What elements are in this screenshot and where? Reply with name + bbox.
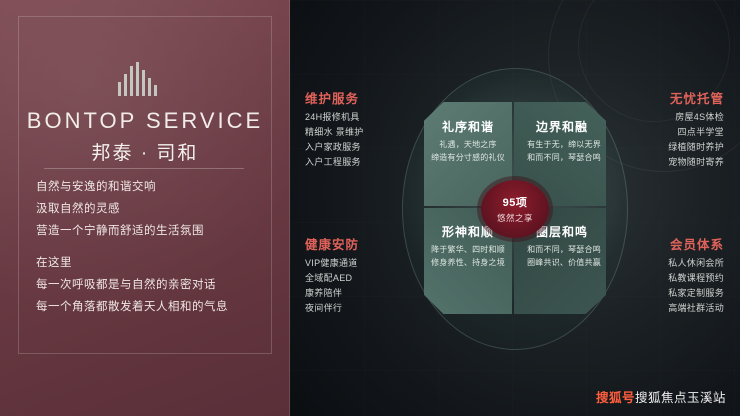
slide-canvas: BONTOP SERVICE 邦泰 · 司和 自然与安逸的和谐交响 汲取自然的灵… [0,0,740,416]
brand-copy-line: 在这里 [36,252,266,274]
list-item: 康养陪伴 [305,286,358,301]
service-wheel-diagram: 礼序和谐 礼遇，天地之序 缔造有分寸感的礼仪 边界和融 有生于无，缔以无界 和而… [402,68,628,350]
list-item: 入户家政服务 [305,140,364,155]
wheel-sub-line: 礼遇，天地之序 [416,138,520,151]
column-list-maintenance: 24H报修机具 精细水 景维护 入户家政服务 入户工程服务 [305,110,364,170]
wheel-sub-line: 圈峰共识、价值共赢 [512,256,616,269]
wheel-sub-line: 缔造有分寸感的礼仪 [416,151,520,164]
wheel-sub-line: 和而不同，琴瑟合鸣 [512,151,616,164]
watermark: 搜狐号搜狐焦点玉溪站 [596,387,726,406]
list-item: 夜间伴行 [305,301,358,316]
list-item: 24H报修机具 [305,110,364,125]
list-item: 私人休闲会所 [668,256,724,271]
brand-name-en: BONTOP SERVICE [0,108,290,134]
wheel-sub-line: 有生于无，缔以无界 [512,138,616,151]
left-panel-frame [18,16,272,354]
wheel-sub-boundary-harmony: 有生于无，缔以无界 和而不同，琴瑟合鸣 [512,138,616,164]
wheel-sub-line: 降于繁华、四时和顺 [416,243,520,256]
list-item: 绿植随时养护 [668,140,724,155]
brand-divider [44,168,244,169]
brand-copy-line: 每一个角落都散发着天人相和的气息 [36,296,266,318]
hub-count: 95项 [503,194,528,210]
column-title-maintenance: 维护服务 [305,88,359,107]
brand-copy-block: 自然与安逸的和谐交响 汲取自然的灵感 营造一个宁静而舒适的生活氛围 在这里 每一… [36,176,266,318]
list-item: 全域配AED [305,271,358,286]
panel-divider [289,0,290,416]
column-title-membership: 会员体系 [670,234,724,253]
list-item: 私家定制服务 [668,286,724,301]
wheel-sub-ritual-harmony: 礼遇，天地之序 缔造有分寸感的礼仪 [416,138,520,164]
wheel-sub-circle-harmony: 和而不同，琴瑟合鸣 圈峰共识、价值共赢 [512,243,616,269]
hub-subtitle: 悠然之享 [497,212,533,224]
brand-copy-line: 自然与安逸的和谐交响 [36,176,266,198]
column-title-worryfree-trust: 无忧托管 [670,88,724,107]
left-brand-panel: BONTOP SERVICE 邦泰 · 司和 自然与安逸的和谐交响 汲取自然的灵… [0,0,290,416]
wheel-label-boundary-harmony: 边界和融 [520,118,604,135]
wheel-sub-line: 修身养性、持身之境 [416,256,520,269]
watermark-prefix: 搜狐号 [596,391,635,405]
bar-motif-icon [118,62,157,96]
column-list-membership: 私人休闲会所 私教课程预约 私家定制服务 高端社群活动 [668,256,724,316]
list-item: 私教课程预约 [668,271,724,286]
watermark-text: 搜狐焦点玉溪站 [635,391,726,405]
brand-copy-line: 营造一个宁静而舒适的生活氛围 [36,220,266,242]
wheel-label-ritual-harmony: 礼序和谐 [426,118,510,135]
list-item: 四点半学堂 [668,125,724,140]
wheel-sub-line: 和而不同，琴瑟合鸣 [512,243,616,256]
list-item: 精细水 景维护 [305,125,364,140]
brand-copy-line: 每一次呼吸都是与自然的亲密对话 [36,274,266,296]
list-item: 宠物随时寄养 [668,155,724,170]
column-list-health-security: VIP健康通道 全域配AED 康养陪伴 夜间伴行 [305,256,358,316]
brand-copy-line: 汲取自然的灵感 [36,198,266,220]
wheel-hub: 95项 悠然之享 [481,180,549,238]
list-item: 高端社群活动 [668,301,724,316]
wheel-sub-form-spirit-harmony: 降于繁华、四时和顺 修身养性、持身之境 [416,243,520,269]
column-list-worryfree-trust: 房屋4S体检 四点半学堂 绿植随时养护 宠物随时寄养 [668,110,724,170]
list-item: VIP健康通道 [305,256,358,271]
brand-name-cn: 邦泰 · 司和 [0,138,290,165]
list-item: 房屋4S体检 [668,110,724,125]
column-title-health-security: 健康安防 [305,234,359,253]
list-item: 入户工程服务 [305,155,364,170]
